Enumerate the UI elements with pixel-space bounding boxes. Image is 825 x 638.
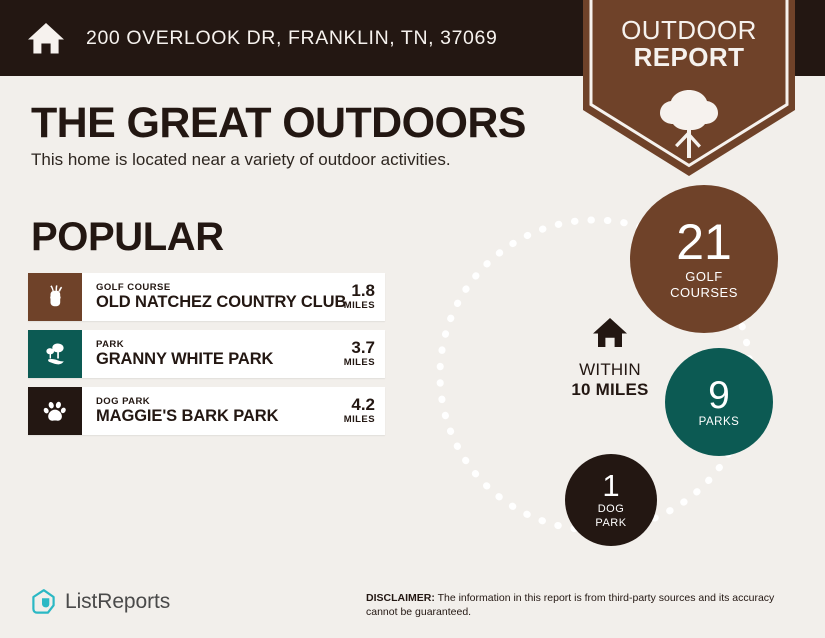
stat-count: 21 bbox=[676, 217, 732, 267]
page-subtitle: This home is located near a variety of o… bbox=[31, 150, 451, 170]
stat-label-line1: DOG bbox=[598, 503, 625, 517]
listreports-house-pin-icon bbox=[31, 588, 57, 615]
stat-label-line2: COURSES bbox=[670, 285, 738, 301]
paw-print-icon bbox=[40, 396, 70, 426]
list-item-labels: GOLF COURSE OLD NATCHEZ COUNTRY CLUB bbox=[96, 282, 336, 312]
list-item-distance-unit: MILES bbox=[344, 300, 375, 311]
list-item-distance-value: 4.2 bbox=[344, 396, 375, 414]
home-icon bbox=[26, 18, 66, 58]
list-item-distance-unit: MILES bbox=[344, 414, 375, 425]
popular-heading: POPULAR bbox=[31, 215, 224, 260]
popular-list: GOLF COURSE OLD NATCHEZ COUNTRY CLUB 1.8… bbox=[28, 273, 385, 444]
diagram-center-line1: WITHIN bbox=[535, 360, 685, 380]
list-item-labels: PARK GRANNY WHITE PARK bbox=[96, 339, 273, 369]
list-item-name: MAGGIE'S BARK PARK bbox=[96, 407, 278, 426]
property-address: 200 OVERLOOK DR, FRANKLIN, TN, 37069 bbox=[86, 27, 497, 50]
stat-circle-golf-courses[interactable]: 21 GOLF COURSES bbox=[630, 185, 778, 333]
stat-circle-parks[interactable]: 9 PARKS bbox=[665, 348, 773, 456]
list-item-distance: 4.2 MILES bbox=[336, 396, 375, 425]
list-item-distance-value: 1.8 bbox=[344, 282, 375, 300]
home-icon bbox=[535, 318, 685, 353]
stat-circle-dog-park[interactable]: 1 DOG PARK bbox=[565, 454, 657, 546]
stat-count: 9 bbox=[708, 376, 730, 415]
list-item-category: DOG PARK bbox=[96, 396, 278, 407]
list-item-icon-tile bbox=[28, 273, 82, 321]
list-item-name: GRANNY WHITE PARK bbox=[96, 350, 273, 369]
list-item-category: GOLF COURSE bbox=[96, 282, 336, 293]
list-item-distance: 1.8 MILES bbox=[336, 282, 375, 311]
list-item-icon-tile bbox=[28, 330, 82, 378]
list-item-labels: DOG PARK MAGGIE'S BARK PARK bbox=[96, 396, 278, 426]
list-item-distance-value: 3.7 bbox=[344, 339, 375, 357]
diagram-center-line2: 10 MILES bbox=[535, 380, 685, 400]
list-item[interactable]: GOLF COURSE OLD NATCHEZ COUNTRY CLUB 1.8… bbox=[28, 273, 385, 321]
stat-label-line1: PARKS bbox=[699, 417, 740, 429]
list-item-distance-unit: MILES bbox=[344, 357, 375, 368]
list-item-icon-tile bbox=[28, 387, 82, 435]
page-title: THE GREAT OUTDOORS bbox=[31, 99, 526, 148]
list-item-body: GOLF COURSE OLD NATCHEZ COUNTRY CLUB 1.8… bbox=[82, 273, 385, 321]
listreports-logo-text: ListReports bbox=[65, 590, 170, 614]
list-item-body: DOG PARK MAGGIE'S BARK PARK 4.2 MILES bbox=[82, 387, 385, 435]
list-item-distance: 3.7 MILES bbox=[336, 339, 375, 368]
golf-bag-icon bbox=[40, 282, 70, 312]
stat-count: 1 bbox=[602, 470, 619, 501]
within-10-miles-diagram: WITHIN 10 MILES 21 GOLF COURSES 9 PARKS … bbox=[425, 160, 825, 560]
park-tree-icon bbox=[40, 339, 70, 369]
list-item-name: OLD NATCHEZ COUNTRY CLUB bbox=[96, 293, 336, 312]
diagram-center: WITHIN 10 MILES bbox=[535, 318, 685, 399]
list-item-body: PARK GRANNY WHITE PARK 3.7 MILES bbox=[82, 330, 385, 378]
list-item[interactable]: DOG PARK MAGGIE'S BARK PARK 4.2 MILES bbox=[28, 387, 385, 435]
stat-label-line2: PARK bbox=[595, 517, 626, 531]
disclaimer-label: DISCLAIMER: bbox=[366, 592, 435, 604]
list-item-category: PARK bbox=[96, 339, 273, 350]
stat-label-line1: GOLF bbox=[685, 269, 722, 285]
listreports-logo[interactable]: ListReports bbox=[31, 588, 170, 615]
outdoor-report-badge: OUTDOOR REPORT bbox=[583, 0, 795, 176]
list-item[interactable]: PARK GRANNY WHITE PARK 3.7 MILES bbox=[28, 330, 385, 378]
disclaimer: DISCLAIMER: The information in this repo… bbox=[366, 592, 806, 620]
